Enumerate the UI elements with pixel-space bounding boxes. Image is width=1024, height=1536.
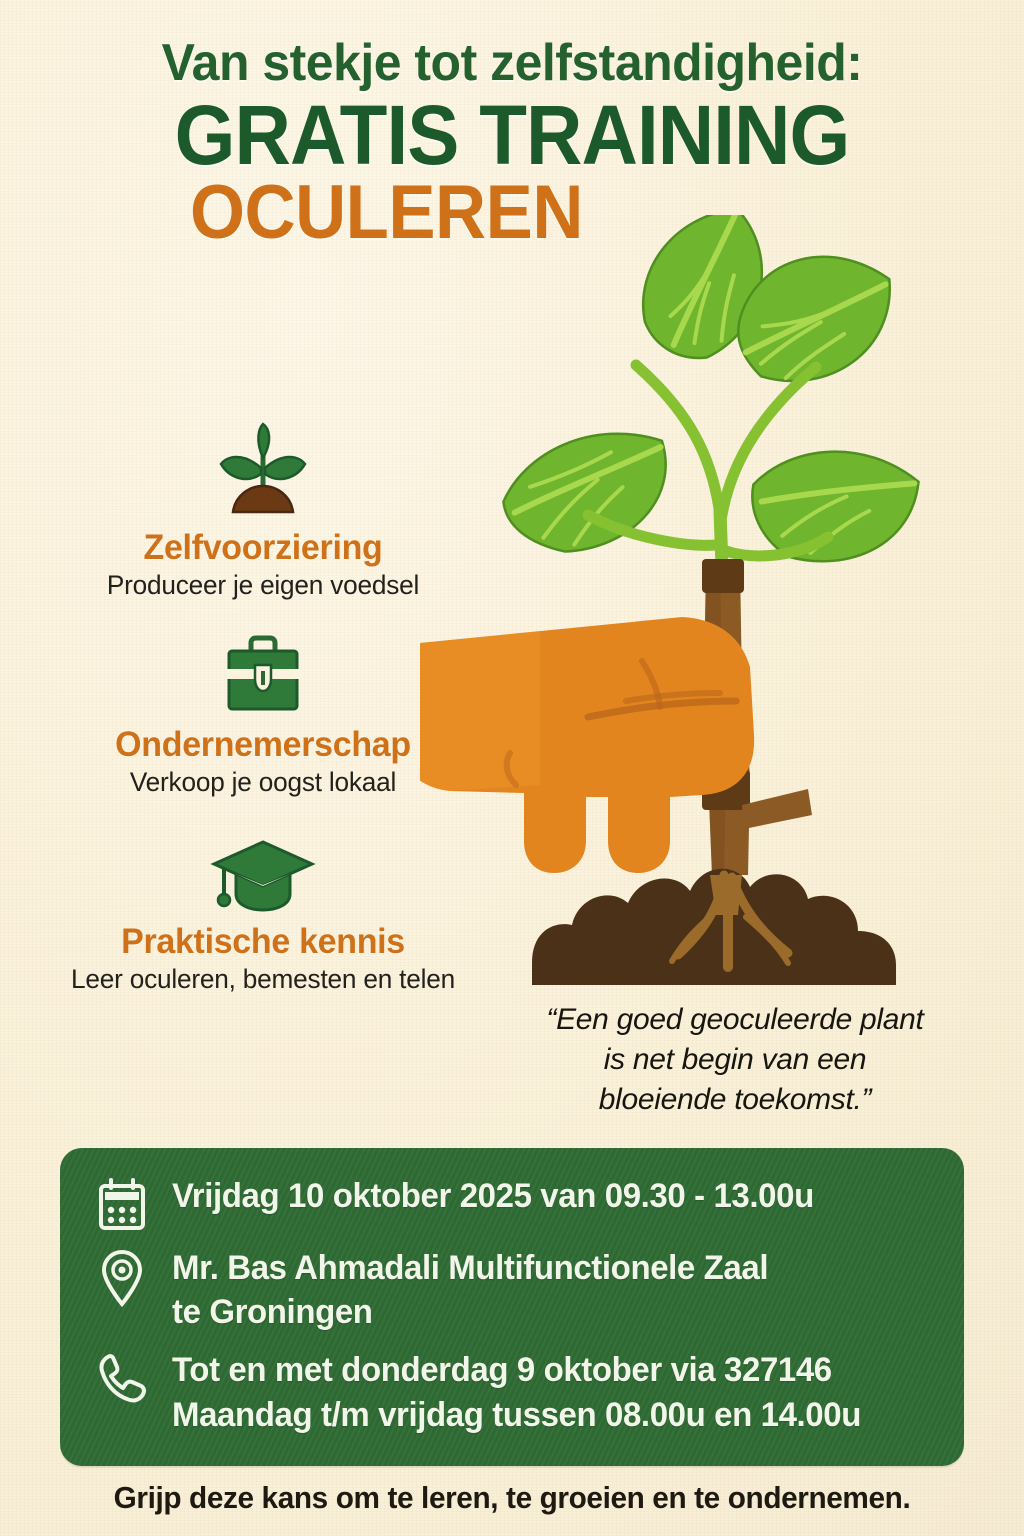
quote-line-2: is net begin van een	[604, 1043, 867, 1076]
testimonial-quote: “Een goed geoculeerde plant is net begin…	[500, 1000, 970, 1120]
event-detail-row-date: Vrijdag 10 oktober 2025 van 09.30 - 13.0…	[60, 1148, 964, 1232]
event-date-text: Vrijdag 10 oktober 2025 van 09.30 - 13.0…	[172, 1174, 814, 1218]
footer-call-to-action: Grijp deze kans om te leren, te groeien …	[20, 1480, 1003, 1516]
headline-main: GRATIS TRAINING	[36, 93, 988, 177]
graduation-cap-icon	[28, 820, 498, 916]
event-contact-line2: Maandag t/m vrijdag tussen 08.00u en 14.…	[172, 1393, 861, 1437]
calendar-icon	[94, 1174, 150, 1232]
feature-item-praktische-kennis: Praktische kennis Leer oculeren, bemeste…	[28, 820, 498, 995]
feature-title: Ondernemerschap	[35, 725, 491, 765]
event-location-line2: te Groningen	[172, 1290, 768, 1334]
event-contact-line1: Tot en met donderdag 9 oktober via 32714…	[172, 1351, 832, 1389]
feature-title: Praktische kennis	[35, 922, 491, 962]
feature-item-zelfvoorziering: Zelfvoorziering Produceer je eigen voeds…	[28, 418, 498, 601]
headline-block: Van stekje tot zelfstandigheid: GRATIS T…	[0, 36, 1024, 251]
location-pin-icon	[94, 1246, 150, 1308]
poster-root: Van stekje tot zelfstandigheid: GRATIS T…	[0, 0, 1024, 1536]
phone-icon	[94, 1348, 150, 1404]
feature-item-ondernemerschap: Ondernemerschap Verkoop je oogst lokaal	[28, 623, 498, 798]
feature-subtitle: Verkoop je oogst lokaal	[35, 767, 491, 798]
event-date-line1: Vrijdag 10 oktober 2025 van 09.30 - 13.0…	[172, 1177, 814, 1215]
feature-subtitle: Leer oculeren, bemesten en telen	[35, 964, 491, 995]
quote-line-1: “Een goed geoculeerde plant	[546, 1003, 923, 1036]
headline-subject: OCULEREN	[0, 175, 863, 251]
briefcase-icon	[28, 623, 498, 719]
event-location-text: Mr. Bas Ahmadali Multifunctionele Zaal t…	[172, 1246, 768, 1334]
event-contact-text: Tot en met donderdag 9 oktober via 32714…	[172, 1348, 861, 1436]
headline-kicker: Van stekje tot zelfstandigheid:	[20, 36, 1003, 91]
event-detail-row-location: Mr. Bas Ahmadali Multifunctionele Zaal t…	[60, 1232, 964, 1334]
feature-title: Zelfvoorziering	[35, 528, 491, 568]
feature-list: Zelfvoorziering Produceer je eigen voeds…	[28, 418, 498, 1017]
hand-grafting-plant-illustration	[420, 215, 1020, 1005]
event-location-line1: Mr. Bas Ahmadali Multifunctionele Zaal	[172, 1249, 768, 1287]
event-detail-row-contact: Tot en met donderdag 9 oktober via 32714…	[60, 1334, 964, 1436]
quote-line-3: bloeiende toekomst.”	[599, 1083, 872, 1116]
event-details-box: Vrijdag 10 oktober 2025 van 09.30 - 13.0…	[60, 1148, 964, 1466]
feature-subtitle: Produceer je eigen voedsel	[35, 570, 491, 601]
seedling-icon	[28, 418, 498, 522]
